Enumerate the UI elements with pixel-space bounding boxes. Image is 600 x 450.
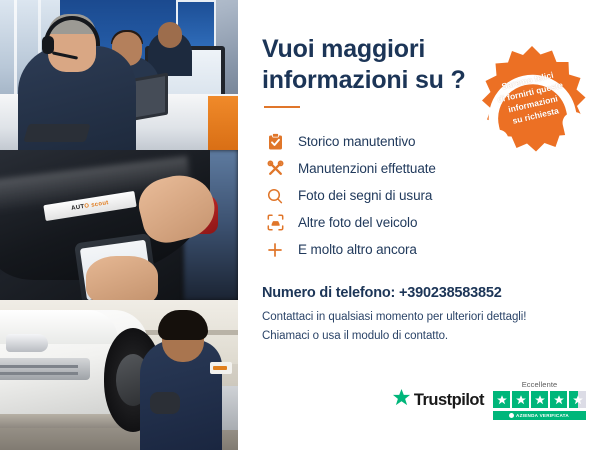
phone-line[interactable]: Numero di telefono: +390238583852 bbox=[262, 285, 578, 301]
headlight-decor bbox=[6, 334, 48, 352]
person-background-head-decor bbox=[158, 22, 182, 48]
promo-rosette-badge: Saremo felici di fornirti queste informa… bbox=[476, 44, 588, 156]
car-inspection-photo: AUTO scout bbox=[0, 150, 238, 300]
headline-line-1: Vuoi maggiori bbox=[262, 35, 425, 63]
mechanic-hair-decor bbox=[158, 310, 208, 340]
feature-label: Altre foto del veicolo bbox=[298, 215, 417, 230]
check-circle-icon bbox=[509, 413, 514, 418]
feature-item-foto-usura[interactable]: Foto dei segni di usura bbox=[262, 182, 578, 209]
title-underline-divider bbox=[264, 106, 300, 108]
mechanic-glove-decor bbox=[150, 392, 180, 414]
hand-lower-decor bbox=[86, 256, 158, 300]
call-center-photo bbox=[0, 0, 238, 150]
magnifier-icon bbox=[262, 188, 288, 204]
contact-subtext: Contattaci in qualsiasi momento per ulte… bbox=[262, 308, 578, 345]
contact-subtext-line-2: Chiamaci o usa il modulo di contatto. bbox=[262, 330, 448, 342]
feature-label: E molto altro ancora bbox=[298, 242, 417, 257]
contact-block: Numero di telefono: +390238583852 Contat… bbox=[262, 285, 578, 345]
phone-label: Numero di telefono: bbox=[262, 285, 399, 301]
photo-column: AUTO scout bbox=[0, 0, 238, 450]
grille-decor bbox=[0, 358, 90, 380]
scan-car-icon bbox=[262, 214, 288, 231]
verified-company-badge: AZIENDA VERIFICATA bbox=[493, 411, 586, 420]
plus-icon bbox=[262, 242, 288, 258]
star-filled-2 bbox=[512, 391, 529, 408]
rating-caption: Eccellente bbox=[522, 380, 558, 389]
orange-panel-decor bbox=[208, 96, 238, 150]
phone-number[interactable]: +390238583852 bbox=[399, 285, 502, 301]
content-panel: Vuoi maggiori informazioni su ? Saremo f… bbox=[238, 0, 600, 450]
tools-wrench-icon bbox=[262, 160, 288, 177]
mechanic-wheel-photo bbox=[0, 300, 238, 450]
star-filled-3 bbox=[531, 391, 548, 408]
uniform-badge-decor bbox=[210, 362, 232, 374]
headline-line-2: informazioni su ? bbox=[262, 66, 466, 94]
tablet-decor bbox=[23, 124, 90, 142]
trustpilot-logo: Trustpilot bbox=[392, 388, 484, 412]
page-title: Vuoi maggiori informazioni su ? bbox=[262, 34, 472, 95]
contact-subtext-line-1: Contattaci in qualsiasi momento per ulte… bbox=[262, 311, 526, 323]
star-partial-5 bbox=[569, 391, 586, 408]
clipboard-check-icon bbox=[262, 133, 288, 150]
feature-item-altre-foto[interactable]: Altre foto del veicolo bbox=[262, 209, 578, 236]
feature-label: Manutenzioni effettuate bbox=[298, 161, 436, 176]
feature-label: Foto dei segni di usura bbox=[298, 188, 432, 203]
feature-label: Storico manutentivo bbox=[298, 134, 415, 149]
trustpilot-widget[interactable]: Trustpilot Eccellente AZIENDA VERIFICATA bbox=[392, 380, 586, 420]
advertisement-banner: AUTO scout Vuoi maggiori info bbox=[0, 0, 600, 450]
star-filled-1 bbox=[493, 391, 510, 408]
feature-item-altro-ancora[interactable]: E molto altro ancora bbox=[262, 236, 578, 263]
trustpilot-brand-label: Trustpilot bbox=[414, 391, 484, 410]
star-rating bbox=[493, 391, 586, 408]
star-filled-4 bbox=[550, 391, 567, 408]
verified-label: AZIENDA VERIFICATA bbox=[516, 413, 569, 418]
trustpilot-rating-group: Eccellente AZIENDA VERIFICATA bbox=[493, 380, 586, 420]
trustpilot-star-icon bbox=[392, 388, 411, 412]
